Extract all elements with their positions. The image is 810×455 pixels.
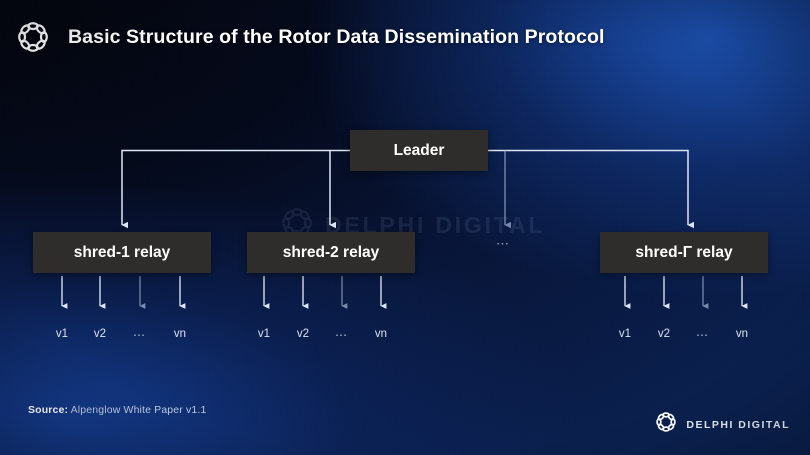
validator-label: vn <box>174 328 186 340</box>
delphi-ring-logo-icon <box>655 411 677 438</box>
validator-label: vn <box>375 328 387 340</box>
validator-label: v1 <box>258 328 270 340</box>
validator-label: v2 <box>94 328 106 340</box>
validator-label: v2 <box>297 328 309 340</box>
validator-label: v1 <box>619 328 631 340</box>
slide-canvas: Basic Structure of the Rotor Data Dissem… <box>0 0 810 455</box>
footer-brand-text: DELPHI DIGITAL <box>686 419 790 431</box>
validator-ellipsis: ⋯ <box>696 328 710 342</box>
node-shred-relay-2[interactable]: shred-2 relay <box>247 232 415 273</box>
validator-label: vn <box>736 328 748 340</box>
node-shred-relay-3[interactable]: shred-Γ relay <box>600 232 768 273</box>
node-shred-relay-1[interactable]: shred-1 relay <box>33 232 211 273</box>
footer-brand: DELPHI DIGITAL <box>655 411 790 438</box>
source-caption: Source: Alpenglow White Paper v1.1 <box>28 404 206 416</box>
rotor-protocol-diagram: Leader shred-1 relay shred-2 relay shred… <box>0 0 810 455</box>
connector-lines <box>0 0 810 455</box>
validator-ellipsis: ⋯ <box>335 328 349 342</box>
validator-ellipsis: ⋯ <box>133 328 147 342</box>
source-value: Alpenglow White Paper v1.1 <box>68 404 206 416</box>
node-leader[interactable]: Leader <box>350 130 488 171</box>
relay-ellipsis: ⋯ <box>496 236 512 252</box>
validator-label: v1 <box>56 328 68 340</box>
source-prefix: Source: <box>28 404 68 416</box>
validator-label: v2 <box>658 328 670 340</box>
